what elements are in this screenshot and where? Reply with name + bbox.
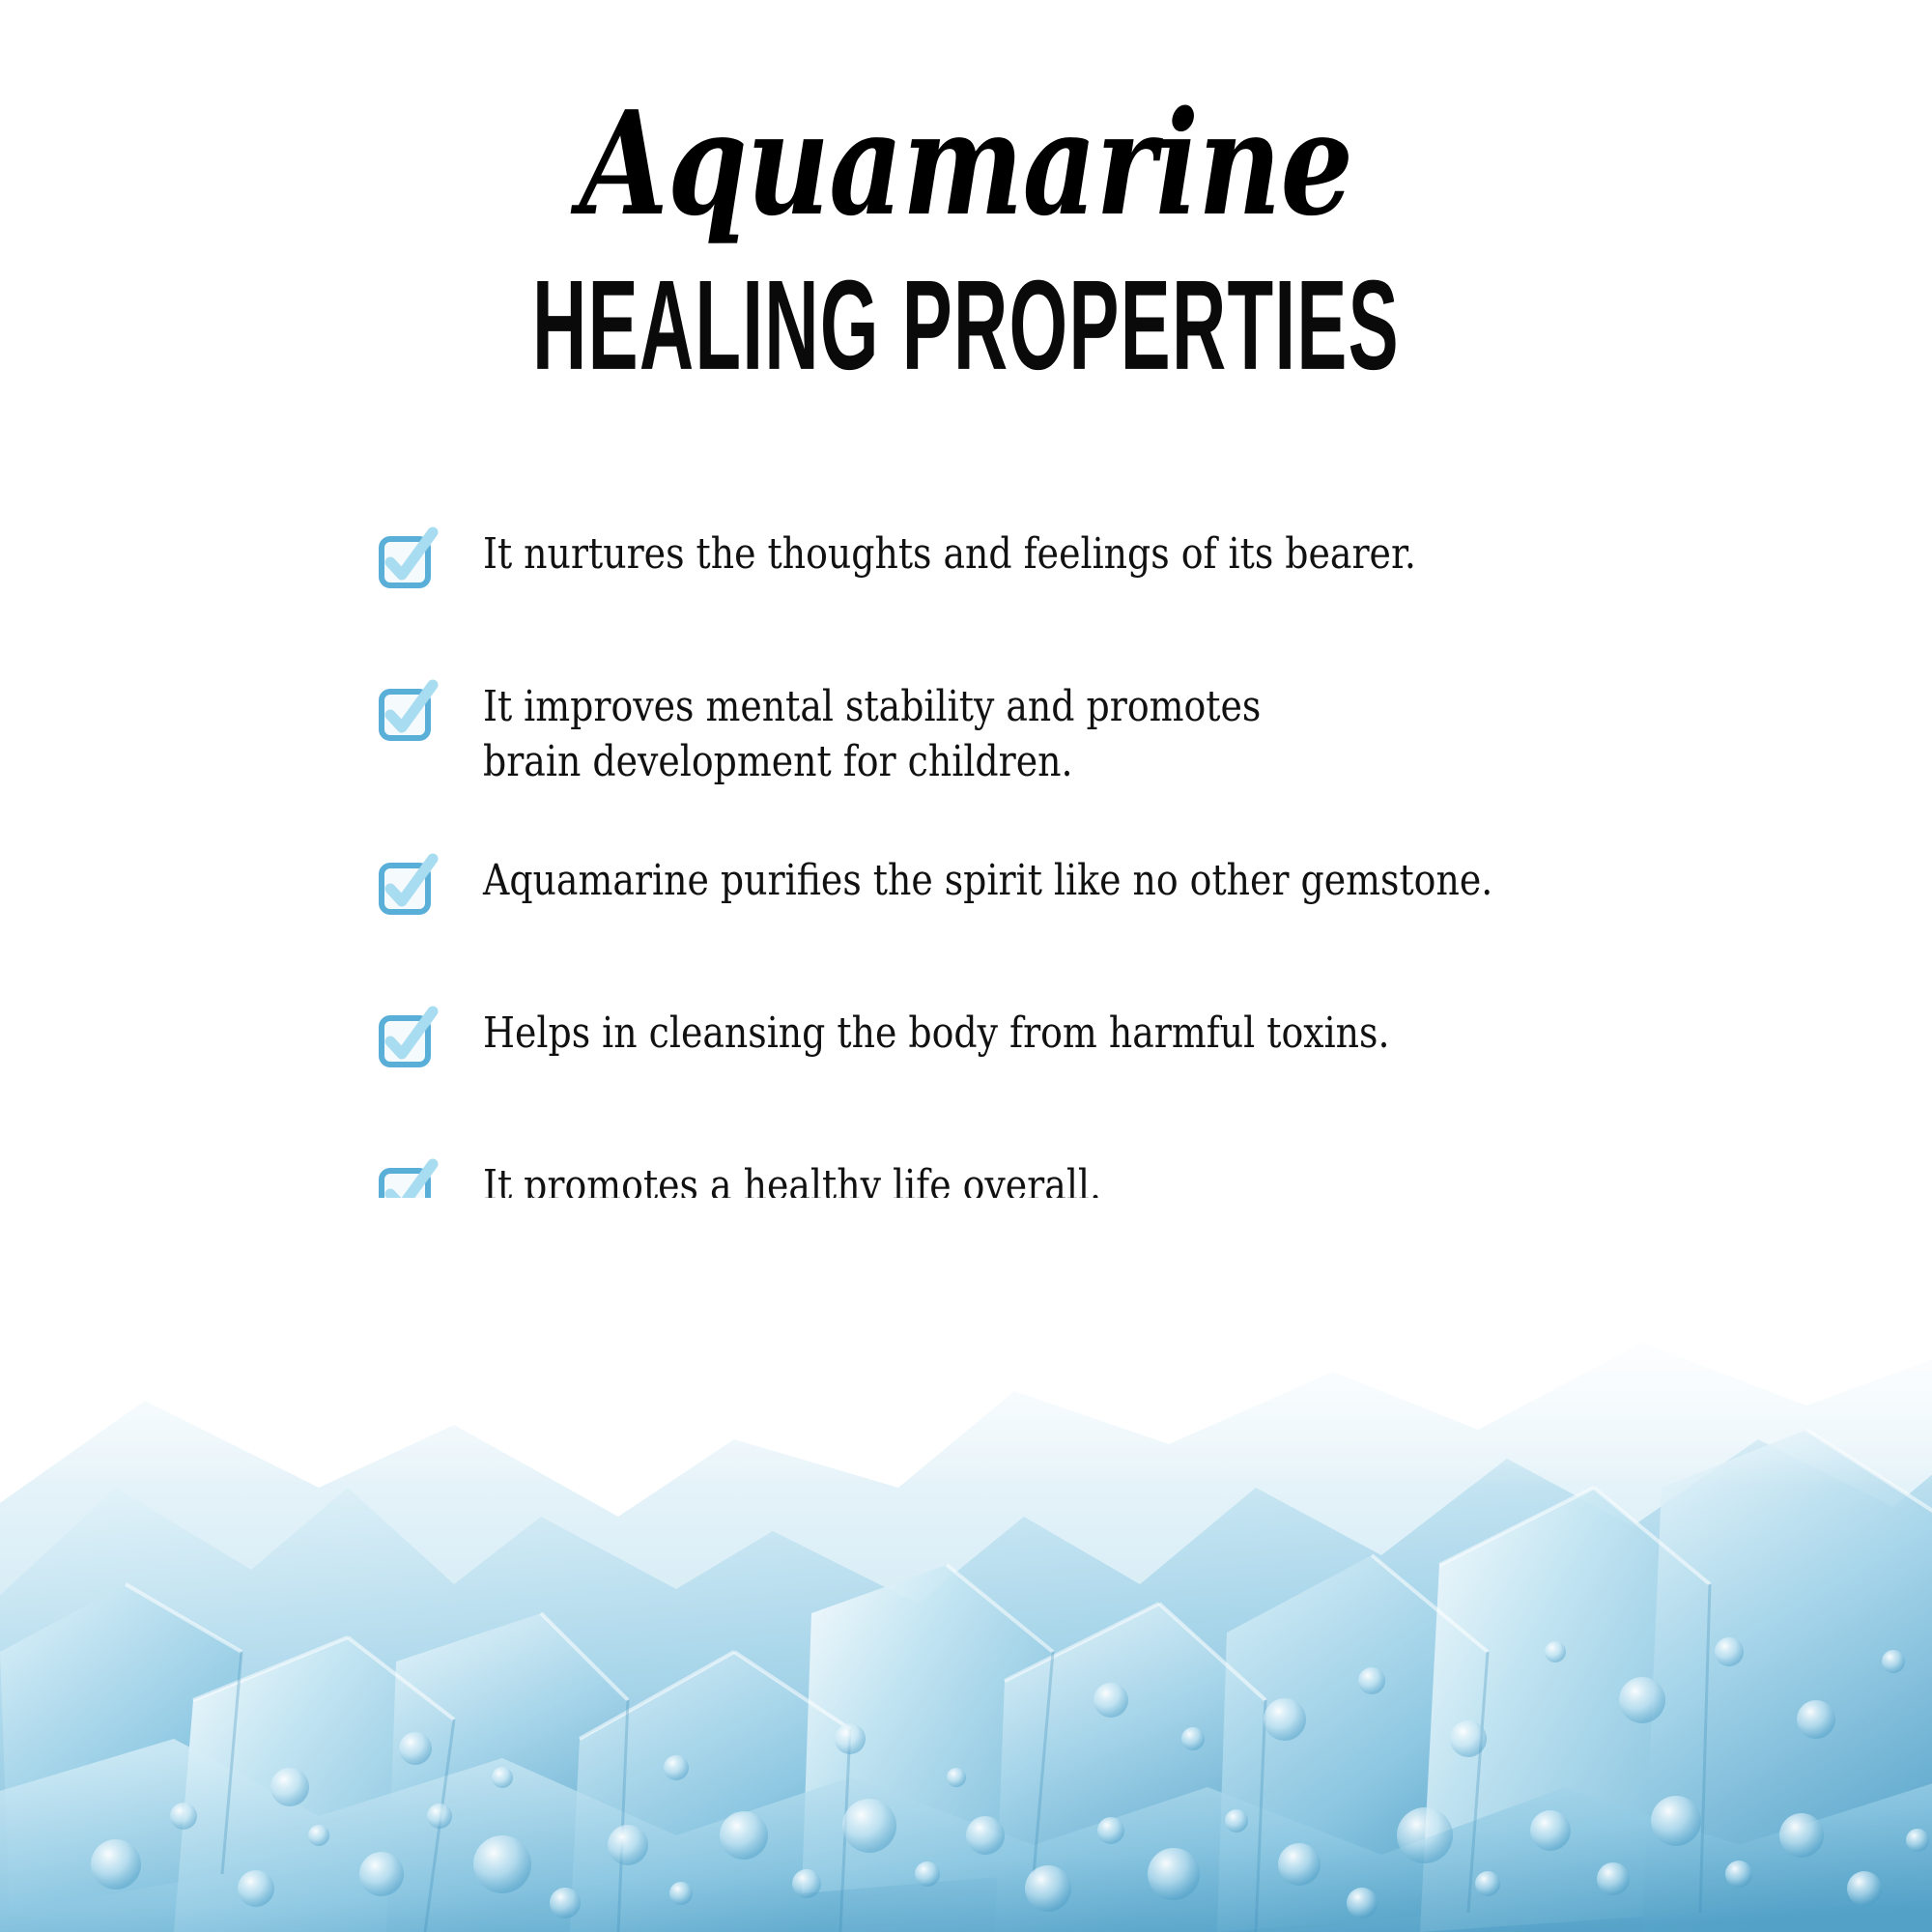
list-item-label: It improves mental stability and promote… [483,679,1261,789]
list-item-label: Aquamarine purifies the spirit like no o… [483,853,1492,908]
list-item[interactable]: Aquamarine purifies the spirit like no o… [379,853,1808,917]
ice-cubes-photo [0,1198,1932,1932]
title-block: Aquamarine HEALING PROPERTIES [0,92,1932,376]
list-item[interactable]: Helps in cleansing the body from harmful… [379,1006,1808,1069]
checkbox-checked-icon[interactable] [379,683,437,743]
list-item[interactable]: It nurtures the thoughts and feelings of… [379,526,1808,590]
checkbox-checked-icon[interactable] [379,530,437,590]
healing-properties-list: It nurtures the thoughts and feelings of… [379,526,1808,1222]
checkbox-checked-icon[interactable] [379,857,437,917]
list-item-label: It nurtures the thoughts and feelings of… [483,526,1416,582]
page-subtitle: HEALING PROPERTIES [328,262,1604,389]
poster-canvas: Aquamarine HEALING PROPERTIES It nurture… [0,0,1932,1932]
list-item-label: Helps in cleansing the body from harmful… [483,1006,1390,1061]
checkbox-checked-icon[interactable] [379,1009,437,1069]
page-title: Aquamarine [193,92,1739,235]
list-item[interactable]: It improves mental stability and promote… [379,679,1808,789]
